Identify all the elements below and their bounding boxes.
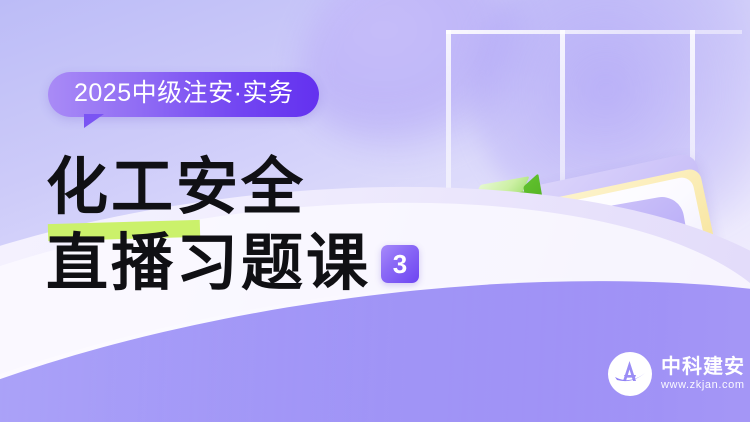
brand-logo-text: 中科建安 www.zkjan.com <box>661 356 745 393</box>
brand-name: 中科建安 <box>661 356 745 378</box>
banner-title-block: 化工安全 直播习题课 3 <box>46 150 419 302</box>
page-subtitle: 直播习题课 <box>46 226 371 302</box>
page-title: 化工安全 <box>46 154 306 222</box>
course-promo-banner: 2025中级注安·实务 化工安全 直播习题课 3 中科建安 www.zkjan.… <box>0 0 750 422</box>
title-line-one-wrap: 化工安全 <box>46 150 419 226</box>
course-category-badge: 2025中级注安·实务 <box>48 72 319 117</box>
title-line-two-wrap: 直播习题课 3 <box>46 226 419 302</box>
brand-url: www.zkjan.com <box>661 378 745 393</box>
course-category-badge-label: 2025中级注安·实务 <box>48 72 319 117</box>
badge-tail-icon <box>84 114 104 128</box>
episode-number-badge: 3 <box>381 245 419 283</box>
zkjan-circle-logo-icon <box>608 352 652 396</box>
brand-logo: 中科建安 www.zkjan.com <box>608 352 745 396</box>
background-panel-top-edge <box>446 30 742 34</box>
